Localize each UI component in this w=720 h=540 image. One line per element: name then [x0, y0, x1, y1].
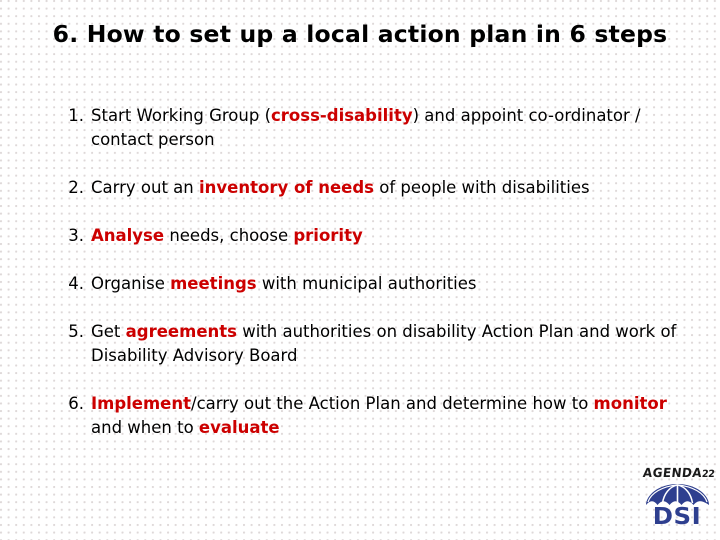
text-run: /carry out the Action Plan and determine… [191, 394, 594, 413]
highlighted-term: priority [293, 226, 362, 245]
text-run: Get [91, 322, 126, 341]
highlighted-term: cross-disability [271, 106, 413, 125]
highlighted-term: Analyse [91, 226, 164, 245]
list-item-text: Carry out an inventory of needs of peopl… [91, 176, 688, 200]
highlighted-term: Implement [91, 394, 191, 413]
list-item: 6.Implement/carry out the Action Plan an… [58, 392, 688, 440]
list-item-number: 2. [58, 176, 91, 200]
text-run: Organise [91, 274, 170, 293]
highlighted-term: monitor [594, 394, 667, 413]
text-run: Start Working Group ( [91, 106, 271, 125]
list-item-text: Get agreements with authorities on disab… [91, 320, 688, 368]
list-item-number: 1. [58, 104, 91, 128]
list-item-number: 3. [58, 224, 91, 248]
slide-canvas: 6. How to set up a local action plan in … [0, 0, 720, 540]
text-run: Carry out an [91, 178, 199, 197]
list-item-text: Implement/carry out the Action Plan and … [91, 392, 688, 440]
list-item: 4.Organise meetings with municipal autho… [58, 272, 688, 296]
agenda22-dsi-logo: AGENDA22 DSI [640, 466, 714, 534]
list-item-number: 6. [58, 392, 91, 416]
logo-dsi-text: DSI [640, 504, 714, 530]
highlighted-term: meetings [170, 274, 257, 293]
logo-agenda-year: 22 [701, 469, 715, 481]
list-item-number: 5. [58, 320, 91, 344]
steps-list: 1.Start Working Group (cross-disability)… [58, 104, 688, 440]
text-run: needs, choose [164, 226, 293, 245]
page-title: 6. How to set up a local action plan in … [0, 22, 720, 48]
list-item: 3.Analyse needs, choose priority [58, 224, 688, 248]
list-item-text: Start Working Group (cross-disability) a… [91, 104, 688, 152]
highlighted-term: evaluate [199, 418, 280, 437]
highlighted-term: inventory of needs [199, 178, 374, 197]
text-run: and when to [91, 418, 199, 437]
list-item: 1.Start Working Group (cross-disability)… [58, 104, 688, 152]
highlighted-term: agreements [126, 322, 237, 341]
logo-agenda-text: AGENDA22 [642, 466, 714, 481]
text-run: of people with disabilities [374, 178, 590, 197]
logo-agenda-word: AGENDA [642, 466, 703, 481]
list-item-text: Analyse needs, choose priority [91, 224, 688, 248]
list-item-number: 4. [58, 272, 91, 296]
text-run: with municipal authorities [257, 274, 477, 293]
list-item-text: Organise meetings with municipal authori… [91, 272, 688, 296]
list-item: 2.Carry out an inventory of needs of peo… [58, 176, 688, 200]
list-item: 5.Get agreements with authorities on dis… [58, 320, 688, 368]
